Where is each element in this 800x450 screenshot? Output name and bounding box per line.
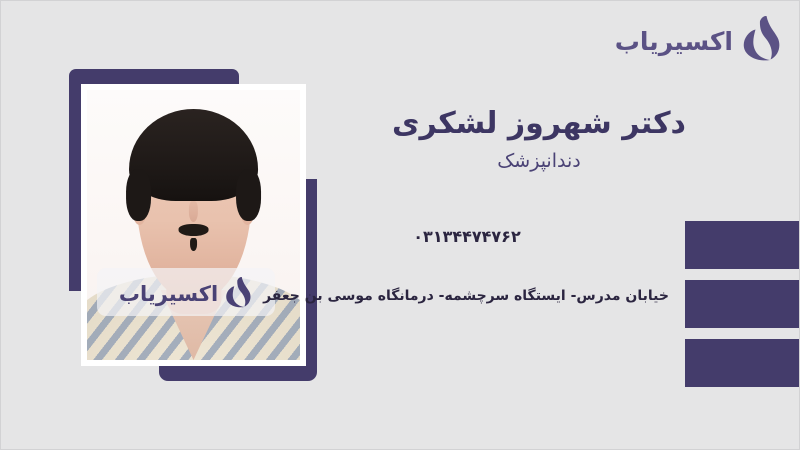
flame-drop-icon xyxy=(739,15,783,61)
portrait-hair xyxy=(129,109,259,201)
doctor-photo: اکسیریاب xyxy=(87,90,300,360)
decor-bar-1 xyxy=(685,221,800,269)
doctor-photo-card: اکسیریاب xyxy=(81,84,306,366)
business-card: اکسیریاب xyxy=(0,0,800,450)
brand-name: اکسیریاب xyxy=(615,29,733,54)
portrait-mustache xyxy=(179,224,209,235)
doctor-name: دکتر شهروز لشکری xyxy=(309,105,769,143)
doctor-phone[interactable]: ۰۳۱۳۴۴۷۴۷۶۲ xyxy=(257,227,677,246)
decor-bar-3 xyxy=(685,339,800,387)
doctor-info: دکتر شهروز لشکری دندانپزشک xyxy=(309,105,769,173)
brand-logo[interactable]: اکسیریاب xyxy=(615,15,783,61)
doctor-specialty: دندانپزشک xyxy=(309,149,769,174)
portrait-graphic xyxy=(87,90,300,360)
flame-drop-icon xyxy=(223,276,253,308)
doctor-address: خیابان مدرس- ایستگاه سرچشمه- درمانگاه مو… xyxy=(251,288,681,304)
watermark-text: اکسیریاب xyxy=(119,284,218,305)
photo-watermark: اکسیریاب xyxy=(97,268,275,316)
photo-block: اکسیریاب xyxy=(59,59,324,389)
portrait-soul-patch xyxy=(190,238,197,251)
decor-bar-2 xyxy=(685,280,800,328)
portrait-nose xyxy=(189,201,198,222)
